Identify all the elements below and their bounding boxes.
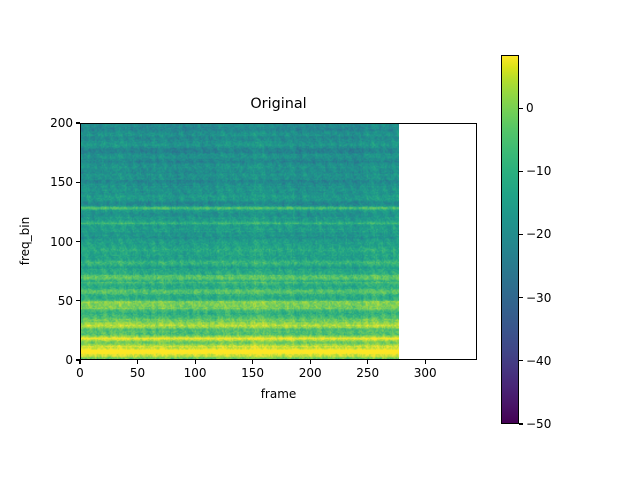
x-tick-mark [252,360,253,364]
x-axis-label: frame [80,388,477,400]
y-tick-mark [76,300,80,301]
x-tick-mark [79,360,80,364]
colorbar-tick-label: −50 [526,418,551,430]
colorbar-tick-label: −20 [526,228,551,240]
y-tick-mark [76,359,80,360]
x-tick-label: 250 [356,367,379,379]
spectrogram-axes [80,123,477,360]
colorbar-tick-label: −10 [526,165,551,177]
colorbar [501,55,519,424]
spectrogram-image [81,123,399,359]
x-tick-label: 0 [76,367,84,379]
matplotlib-figure: Original 050100150200250300 050100150200… [0,0,640,480]
x-tick-mark [137,360,138,364]
x-tick-label: 100 [184,367,207,379]
colorbar-tick-mark [519,234,523,235]
colorbar-tick-mark [519,108,523,109]
colorbar-tick-mark [519,171,523,172]
colorbar-tick-label: 0 [526,102,534,114]
y-tick-label: 0 [32,354,73,366]
y-tick-mark [76,241,80,242]
y-tick-mark [76,182,80,183]
colorbar-tick-mark [519,297,523,298]
x-tick-label: 50 [130,367,145,379]
x-tick-mark [195,360,196,364]
x-tick-label: 150 [241,367,264,379]
x-tick-mark [310,360,311,364]
y-tick-label: 50 [32,295,73,307]
y-tick-mark [76,122,80,123]
y-axis-label-text: freq_bin [19,217,31,265]
x-tick-mark [425,360,426,364]
y-tick-label: 100 [32,236,73,248]
page-title: Original [80,97,477,111]
y-tick-label: 200 [32,117,73,129]
colorbar-tick-label: −40 [526,355,551,367]
x-tick-mark [367,360,368,364]
y-tick-label: 150 [32,176,73,188]
colorbar-tick-mark [519,360,523,361]
colorbar-tick-mark [519,423,523,424]
x-tick-label: 300 [414,367,437,379]
colorbar-tick-label: −30 [526,292,551,304]
x-tick-label: 200 [299,367,322,379]
